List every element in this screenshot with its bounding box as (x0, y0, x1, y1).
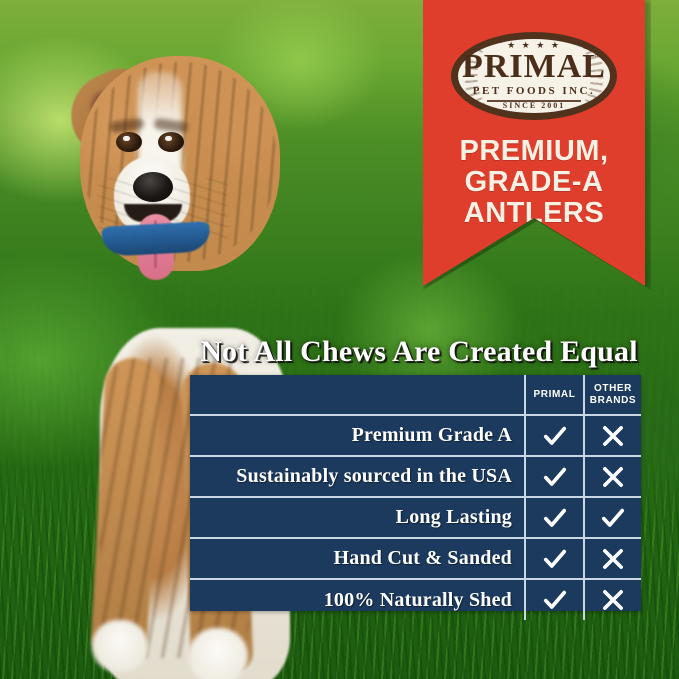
row-label: Long Lasting (190, 498, 524, 537)
table-row: Long Lasting (190, 498, 641, 539)
dog-left-eye (116, 132, 142, 152)
row-label: Hand Cut & Sanded (190, 539, 524, 578)
page-title: Not All Chews Are Created Equal (189, 334, 649, 370)
banner-tagline-line-2: GRADE-A (423, 167, 645, 198)
logo-subtitle: PET FOODS INC. (451, 86, 617, 97)
check-icon (542, 505, 568, 531)
cross-icon (600, 546, 626, 572)
table-header-row: PRIMAL OTHER BRANDS (190, 375, 641, 416)
primal-logo: ★ ★ ★ ★ PRIMAL ™ PET FOODS INC. SINCE 20… (451, 32, 617, 120)
dog-right-paw (188, 628, 248, 679)
cross-icon (600, 464, 626, 490)
check-icon (542, 546, 568, 572)
table-header-label-cell (190, 375, 524, 414)
cross-icon (600, 587, 626, 613)
row-other-mark (583, 457, 641, 496)
row-primal-mark (524, 416, 583, 455)
row-other-mark (583, 498, 641, 537)
comparison-table: PRIMAL OTHER BRANDS Premium Grade A (190, 375, 641, 611)
row-label: Premium Grade A (190, 416, 524, 455)
logo-since-text: SINCE 2001 (451, 102, 617, 110)
column-title-primal: PRIMAL (534, 389, 576, 401)
table-header-primal-cell: PRIMAL (524, 375, 583, 414)
row-label: 100% Naturally Shed (190, 580, 524, 620)
row-primal-mark (524, 457, 583, 496)
cross-icon (600, 423, 626, 449)
row-label: Sustainably sourced in the USA (190, 457, 524, 496)
table-row: 100% Naturally Shed (190, 580, 641, 620)
logo-brand-name: PRIMAL (451, 50, 617, 84)
product-infographic: ★ ★ ★ ★ PRIMAL ™ PET FOODS INC. SINCE 20… (0, 0, 679, 679)
row-primal-mark (524, 580, 583, 620)
row-other-mark (583, 416, 641, 455)
row-other-mark (583, 539, 641, 578)
check-icon (542, 464, 568, 490)
row-primal-mark (524, 498, 583, 537)
banner-tagline-line-1: PREMIUM, (423, 136, 645, 167)
check-icon (542, 587, 568, 613)
row-primal-mark (524, 539, 583, 578)
check-icon (542, 423, 568, 449)
dog-left-paw (92, 620, 148, 672)
column-title-other-line-2: BRANDS (590, 395, 636, 406)
column-title-other-line-1: OTHER (594, 383, 632, 394)
check-icon (600, 505, 626, 531)
table-row: Sustainably sourced in the USA (190, 457, 641, 498)
column-title-other-brands: OTHER BRANDS (590, 383, 636, 407)
table-row: Hand Cut & Sanded (190, 539, 641, 580)
table-row: Premium Grade A (190, 416, 641, 457)
dog-nose (133, 172, 173, 202)
row-other-mark (583, 580, 641, 620)
dog-right-eye (158, 132, 184, 152)
logo-trademark-icon: ™ (594, 54, 601, 61)
table-header-other-cell: OTHER BRANDS (583, 375, 641, 414)
banner-tagline: PREMIUM, GRADE-A ANTLERS (423, 136, 645, 229)
